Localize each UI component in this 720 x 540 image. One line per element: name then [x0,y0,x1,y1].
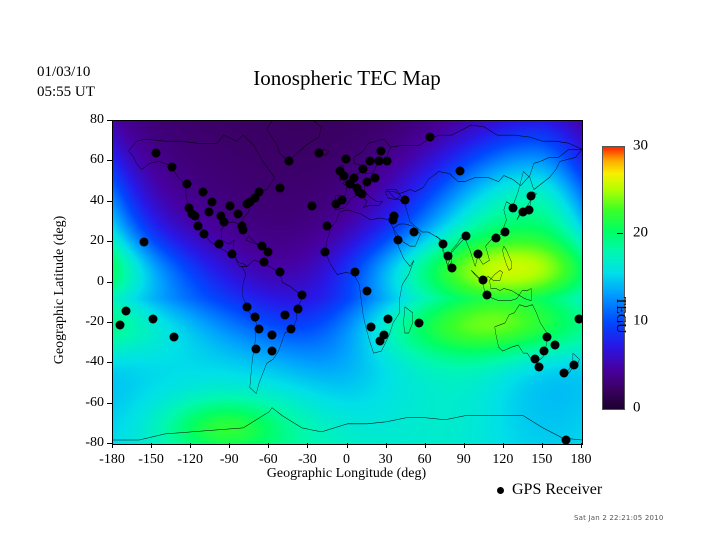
y-tick [107,241,112,242]
x-tick [425,443,426,448]
y-tick [107,403,112,404]
y-tick-label: 40 [64,193,104,209]
y-tick [107,282,112,283]
gps-receiver-marker [570,361,579,370]
gps-receiver-marker [219,217,228,226]
gps-receiver-marker [293,304,302,313]
y-tick-label: -20 [64,314,104,330]
y-tick [107,443,112,444]
gps-receiver-marker [264,248,273,257]
filled-circle-icon [497,487,504,494]
gps-receiver-marker [267,330,276,339]
gps-receiver-marker [252,345,261,354]
x-axis-title: Geographic Longitude (deg) [112,466,581,482]
gps-receiver-marker [351,268,360,277]
colorbar-tick-label: 0 [633,400,641,417]
gps-receiver-marker [350,173,359,182]
y-tick [107,322,112,323]
date-label: 01/03/10 [37,64,90,80]
gps-receiver-marker [198,187,207,196]
y-tick-label: 0 [64,274,104,290]
gps-receiver-marker [151,149,160,158]
gps-receiver-marker [425,133,434,142]
x-tick [307,443,308,448]
gps-receiver-marker [527,191,536,200]
gps-receiver-marker [314,149,323,158]
gps-receiver-marker [443,252,452,261]
page-title: Ionospheric TEC Map [112,66,582,91]
legend-label: GPS Receiver [512,481,602,499]
gps-receiver-marker [287,324,296,333]
gps-receiver-marker [478,276,487,285]
y-tick [107,120,112,121]
gps-receiver-marker [275,268,284,277]
x-tick [151,443,152,448]
colorbar-title: TECU [612,255,628,375]
gps-receiver-marker [455,167,464,176]
gps-receiver-marker [115,320,124,329]
gps-receiver-marker [482,290,491,299]
gps-receiver-marker [473,250,482,259]
y-tick-label: 80 [64,112,104,128]
gps-receiver-marker [535,363,544,372]
x-tick [268,443,269,448]
x-tick [190,443,191,448]
gps-receiver-marker [415,318,424,327]
gps-receiver-marker [149,314,158,323]
x-tick [229,443,230,448]
gps-receiver-marker [394,236,403,245]
y-tick [107,160,112,161]
gps-receiver-marker [559,369,568,378]
gps-receiver-marker [254,324,263,333]
gps-receiver-marker [379,330,388,339]
gps-receiver-marker [370,173,379,182]
x-tick [503,443,504,448]
colorbar-tick [617,233,623,234]
gps-receiver-marker [409,228,418,237]
gps-receiver-marker [280,310,289,319]
map-plot-area [112,120,583,445]
gps-receiver-marker [170,333,179,342]
colorbar-tick-label: 10 [633,312,648,329]
gps-receiver-marker [462,232,471,241]
gps-receiver-marker [183,179,192,188]
gps-receiver-marker [275,183,284,192]
x-tick [464,443,465,448]
gps-receiver-marker [208,197,217,206]
gps-receiver-marker [359,165,368,174]
gps-receiver-marker [389,215,398,224]
gps-receiver-marker [140,238,149,247]
time-label: 05:55 UT [37,84,95,100]
gps-receiver-marker [254,187,263,196]
gps-receiver-marker [321,248,330,257]
gps-receiver-marker [167,163,176,172]
gps-receiver-marker [492,234,501,243]
gps-receiver-marker [342,155,351,164]
gps-receiver-marker [575,314,583,323]
gps-receiver-marker [205,207,214,216]
gps-receiver-marker [400,195,409,204]
gps-receiver-marker [501,228,510,237]
gps-receiver-marker [191,211,200,220]
gps-receiver-marker [193,221,202,230]
x-tick [347,443,348,448]
gps-receiver-layer [113,121,582,444]
gps-receiver-marker [550,341,559,350]
gps-receiver-marker [524,205,533,214]
render-timestamp: Sat Jan 2 22:21:05 2010 [574,514,663,522]
gps-receiver-marker [308,201,317,210]
gps-receiver-marker [338,195,347,204]
gps-receiver-marker [366,322,375,331]
tec-map-figure: 01/03/1005:55 UT Ionospheric TEC Map -18… [0,0,720,540]
gps-receiver-marker [438,240,447,249]
gps-receiver-marker [377,147,386,156]
gps-receiver-marker [200,230,209,239]
gps-receiver-marker [234,209,243,218]
gps-receiver-marker [447,264,456,273]
colorbar-tick-label: 30 [633,138,648,155]
x-tick [112,443,113,448]
x-tick [386,443,387,448]
y-tick-label: -40 [64,354,104,370]
gps-receiver-marker [297,290,306,299]
x-tick [581,443,582,448]
gps-receiver-marker [267,347,276,356]
y-tick-label: 20 [64,233,104,249]
gps-receiver-marker [382,157,391,166]
gps-receiver-marker [284,157,293,166]
gps-receiver-marker [260,258,269,267]
gps-receiver-marker [357,189,366,198]
gps-receiver-marker [542,333,551,342]
y-tick [107,201,112,202]
gps-receiver-marker [226,201,235,210]
gps-receiver-marker [251,312,260,321]
y-tick-label: -80 [64,435,104,451]
x-tick [542,443,543,448]
gps-receiver-marker [363,286,372,295]
gps-receiver-marker [214,240,223,249]
gps-receiver-marker [243,302,252,311]
date-time-stamp: 01/03/1005:55 UT [37,62,95,103]
gps-receiver-marker [239,226,248,235]
legend: GPS Receiver [497,481,602,499]
y-axis-title: Geographic Latitude (deg) [52,190,68,390]
gps-receiver-marker [227,250,236,259]
gps-receiver-marker [508,203,517,212]
y-tick-label: 60 [64,152,104,168]
gps-receiver-marker [122,306,131,315]
gps-receiver-marker [540,347,549,356]
gps-receiver-marker [365,157,374,166]
gps-receiver-marker [383,314,392,323]
y-tick [107,362,112,363]
gps-receiver-marker [322,221,331,230]
y-tick-label: -60 [64,395,104,411]
gps-receiver-marker [335,167,344,176]
gps-receiver-marker [562,435,571,444]
colorbar-tick-label: 20 [633,225,648,242]
